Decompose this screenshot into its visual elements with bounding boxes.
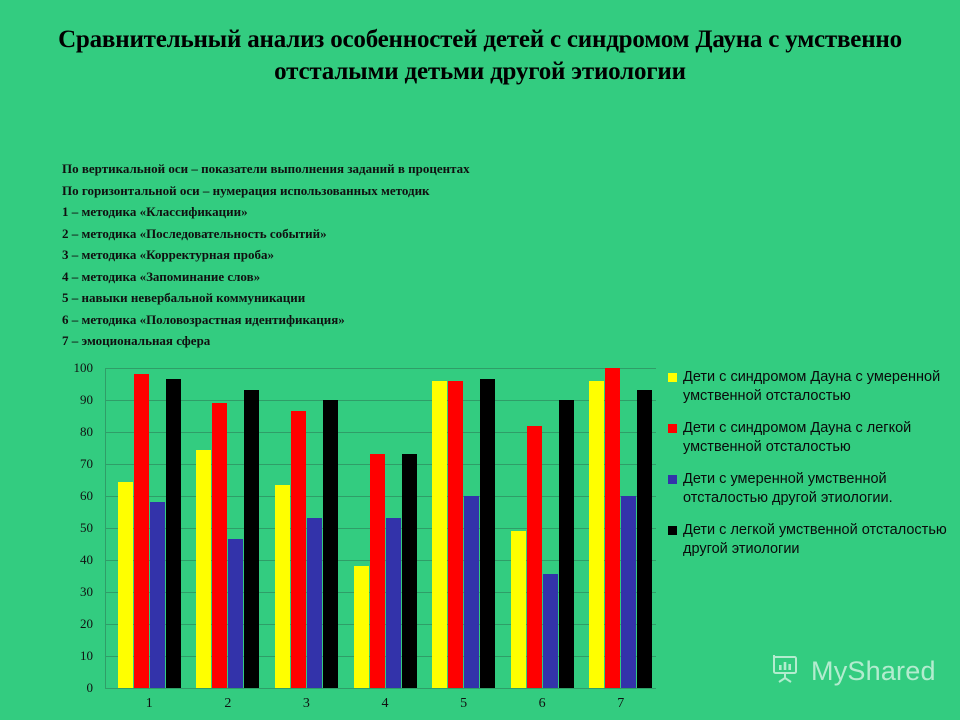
bar bbox=[511, 531, 526, 688]
bar bbox=[323, 400, 338, 688]
legend-entry: Дети с умеренной умственной отсталостью … bbox=[668, 470, 956, 508]
bar bbox=[464, 496, 479, 688]
legend-entry: Дети с синдромом Дауна с умеренной умств… bbox=[668, 368, 956, 406]
bar bbox=[291, 411, 306, 688]
bar-group bbox=[196, 368, 259, 688]
chart-description-block: По вертикальной оси – показатели выполне… bbox=[62, 158, 470, 352]
y-tick-label: 70 bbox=[80, 456, 93, 472]
bar bbox=[370, 454, 385, 688]
bar bbox=[559, 400, 574, 688]
x-tick-label: 1 bbox=[146, 696, 153, 712]
bar bbox=[150, 502, 165, 688]
bar bbox=[402, 454, 417, 688]
bar-group bbox=[511, 368, 574, 688]
legend-label: Дети с синдромом Дауна с умеренной умств… bbox=[683, 368, 956, 406]
bar bbox=[307, 518, 322, 688]
legend-swatch-icon bbox=[668, 373, 677, 382]
x-tick-label: 2 bbox=[224, 696, 231, 712]
y-tick-label: 100 bbox=[74, 360, 94, 376]
bar bbox=[212, 403, 227, 688]
bar bbox=[527, 426, 542, 688]
bar-group bbox=[589, 368, 652, 688]
bar bbox=[166, 379, 181, 688]
bar-group bbox=[118, 368, 181, 688]
x-axis: 1234567 bbox=[105, 692, 655, 718]
bar bbox=[448, 381, 463, 688]
legend-label: Дети с синдромом Дауна с легкой умственн… bbox=[683, 419, 956, 457]
bar bbox=[589, 381, 604, 688]
chart-legend: Дети с синдромом Дауна с умеренной умств… bbox=[668, 368, 956, 572]
bar-group bbox=[354, 368, 417, 688]
bar bbox=[118, 482, 133, 688]
bar bbox=[432, 381, 447, 688]
description-line-horizontal-axis: По горизонтальной оси – нумерация исполь… bbox=[62, 180, 470, 202]
y-tick-label: 20 bbox=[80, 616, 93, 632]
bars-layer bbox=[105, 368, 655, 688]
y-tick-label: 0 bbox=[87, 680, 94, 696]
bar bbox=[637, 390, 652, 688]
description-line-method-3: 3 – методика «Корректурная проба» bbox=[62, 244, 470, 266]
bar bbox=[480, 379, 495, 688]
bar bbox=[134, 374, 149, 688]
legend-label: Дети с умеренной умственной отсталостью … bbox=[683, 470, 956, 508]
watermark-text: MyShared bbox=[811, 656, 936, 687]
y-tick-label: 60 bbox=[80, 488, 93, 504]
bar bbox=[244, 390, 259, 688]
watermark: MyShared bbox=[768, 652, 936, 691]
description-line-method-5: 5 – навыки невербальной коммуникации bbox=[62, 287, 470, 309]
y-tick-label: 40 bbox=[80, 552, 93, 568]
y-tick-label: 30 bbox=[80, 584, 93, 600]
description-line-method-7: 7 – эмоциональная сфера bbox=[62, 330, 470, 352]
description-line-method-1: 1 – методика «Классификации» bbox=[62, 201, 470, 223]
y-tick-label: 10 bbox=[80, 648, 93, 664]
bar-group bbox=[432, 368, 495, 688]
bar bbox=[228, 539, 243, 688]
description-line-method-2: 2 – методика «Последовательность событий… bbox=[62, 223, 470, 245]
bar bbox=[354, 566, 369, 688]
x-tick-label: 7 bbox=[617, 696, 624, 712]
page-title: Сравнительный анализ особенностей детей … bbox=[40, 24, 920, 88]
y-tick-label: 80 bbox=[80, 424, 93, 440]
y-tick-label: 90 bbox=[80, 392, 93, 408]
x-tick-label: 3 bbox=[303, 696, 310, 712]
presentation-chart-icon bbox=[768, 652, 802, 691]
y-axis: 0102030405060708090100 bbox=[55, 368, 99, 688]
y-tick-label: 50 bbox=[80, 520, 93, 536]
legend-swatch-icon bbox=[668, 475, 677, 484]
x-tick-label: 4 bbox=[382, 696, 389, 712]
bar bbox=[275, 485, 290, 688]
bar bbox=[621, 496, 636, 688]
x-tick-label: 5 bbox=[460, 696, 467, 712]
legend-swatch-icon bbox=[668, 526, 677, 535]
legend-label: Дети с легкой умственной отсталостью дру… bbox=[683, 521, 956, 559]
legend-entry: Дети с легкой умственной отсталостью дру… bbox=[668, 521, 956, 559]
description-line-method-4: 4 – методика «Запоминание слов» bbox=[62, 266, 470, 288]
legend-swatch-icon bbox=[668, 424, 677, 433]
x-tick-label: 6 bbox=[539, 696, 546, 712]
legend-entry: Дети с синдромом Дауна с легкой умственн… bbox=[668, 419, 956, 457]
bar bbox=[605, 368, 620, 688]
bar bbox=[196, 450, 211, 688]
bar-group bbox=[275, 368, 338, 688]
description-line-method-6: 6 – методика «Половозрастная идентификац… bbox=[62, 309, 470, 331]
bar bbox=[543, 574, 558, 688]
description-line-vertical-axis: По вертикальной оси – показатели выполне… bbox=[62, 158, 470, 180]
bar bbox=[386, 518, 401, 688]
